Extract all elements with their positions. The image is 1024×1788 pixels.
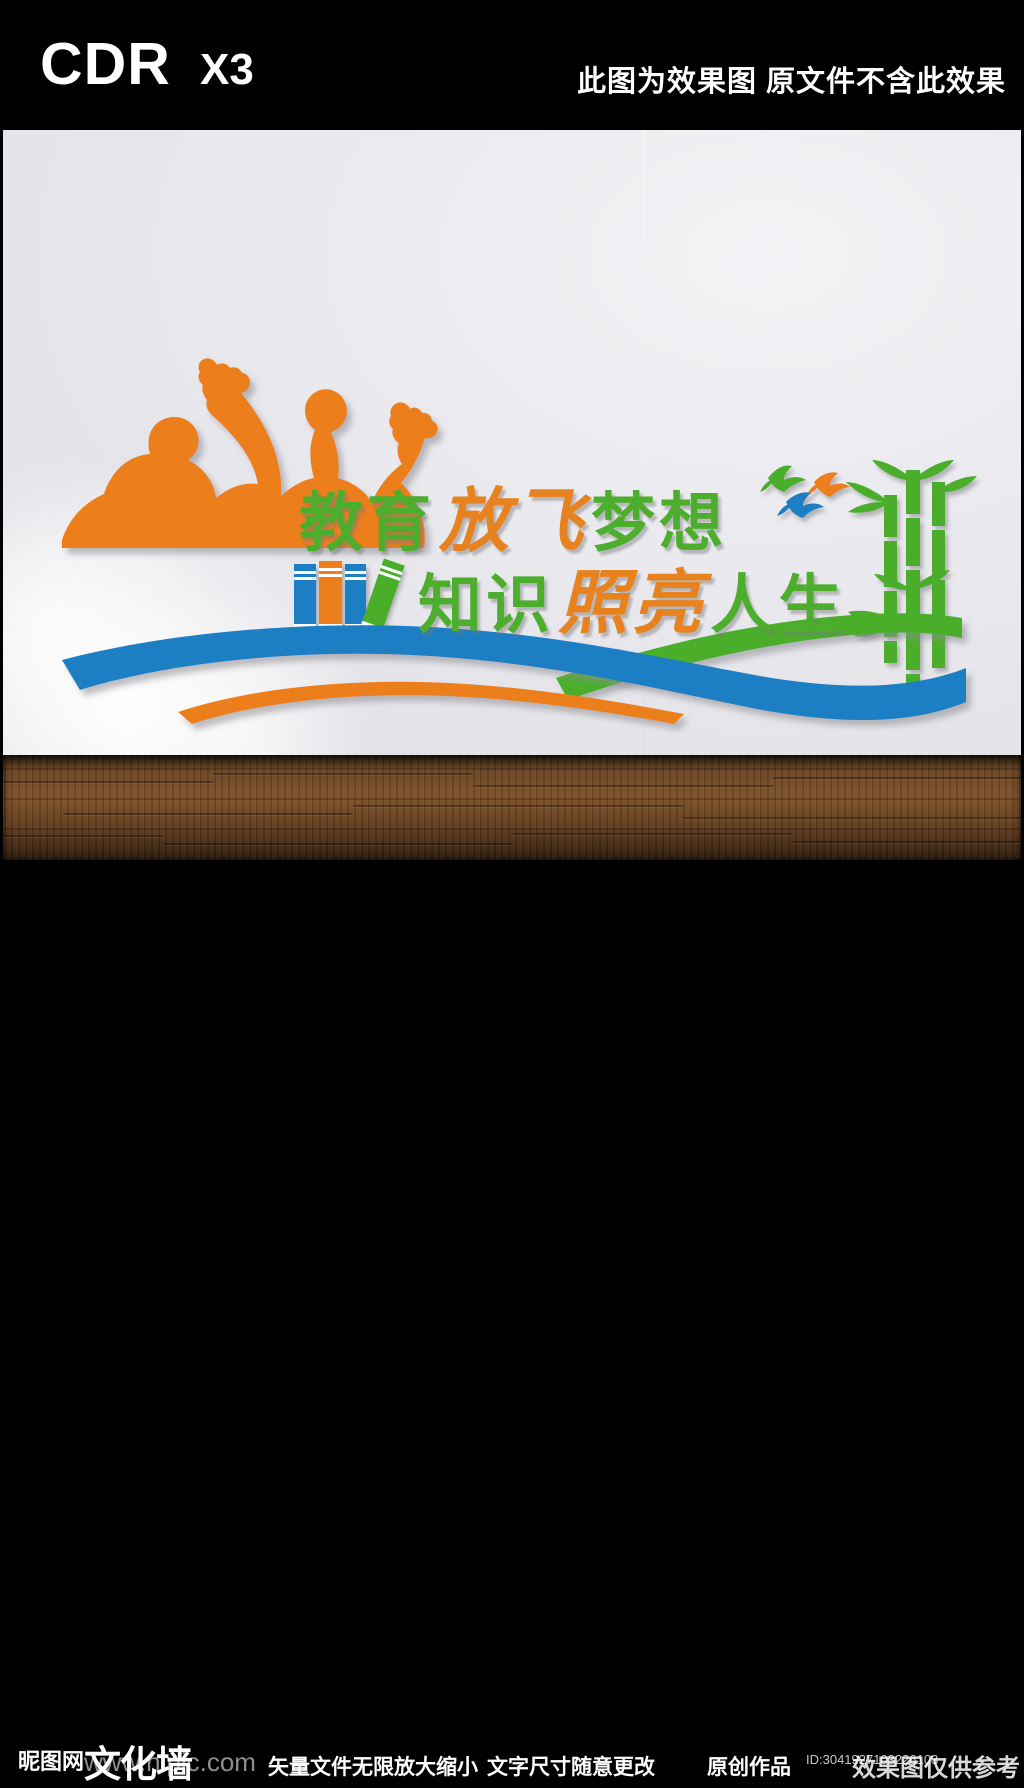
- wave-orange: [178, 682, 684, 724]
- slogan-l2-part-3: 人生: [710, 569, 846, 641]
- bamboo-stalks-icon: [846, 460, 977, 688]
- bottom-info-bar: 昵图网 文化墙 www.nipic.com 矢量文件无限放大缩小 文字尺寸随意更…: [0, 860, 1024, 923]
- footer-note-2: 文字尺寸随意更改: [487, 1751, 655, 1781]
- cdr-version-label: X3: [200, 46, 254, 94]
- cdr-app-label: CDR: [40, 33, 171, 95]
- slogan-l2-part-2: 照亮: [554, 566, 710, 643]
- wood-floor: [3, 755, 1021, 860]
- footer-note-3: 原创作品: [707, 1751, 791, 1781]
- site-name-label: 昵图网: [18, 1744, 84, 1776]
- slogan-l1-part-3: 梦想: [591, 487, 727, 559]
- floor-plank-lines: [3, 755, 1021, 860]
- room-mockup-scene: 教育放飞梦想 知识照亮人生: [0, 130, 1024, 860]
- bird-green-icon: [760, 466, 806, 493]
- watermark-url: www.nipic.com: [84, 1747, 256, 1778]
- wall-decal-artwork: [0, 130, 1018, 755]
- footer-note-1: 矢量文件无限放大缩小: [268, 1751, 478, 1781]
- effect-disclaimer-text: 此图为效果图 原文件不含此效果: [577, 58, 1006, 100]
- slogan-l1-part-1: 教育: [299, 487, 435, 559]
- bird-orange-icon: [807, 472, 850, 497]
- slogan-line-2: 知识照亮人生: [418, 570, 846, 640]
- bird-blue-icon: [777, 492, 824, 518]
- top-info-bar: CDR X3 此图为效果图 原文件不含此效果: [0, 0, 1024, 130]
- slogan-l2-part-1: 知识: [418, 569, 554, 641]
- slogan-l1-part-2: 放飞: [435, 484, 591, 561]
- slogan-line-1: 教育放飞梦想: [299, 488, 727, 558]
- reference-note-watermark: 效果图仅供参考: [852, 1748, 1020, 1783]
